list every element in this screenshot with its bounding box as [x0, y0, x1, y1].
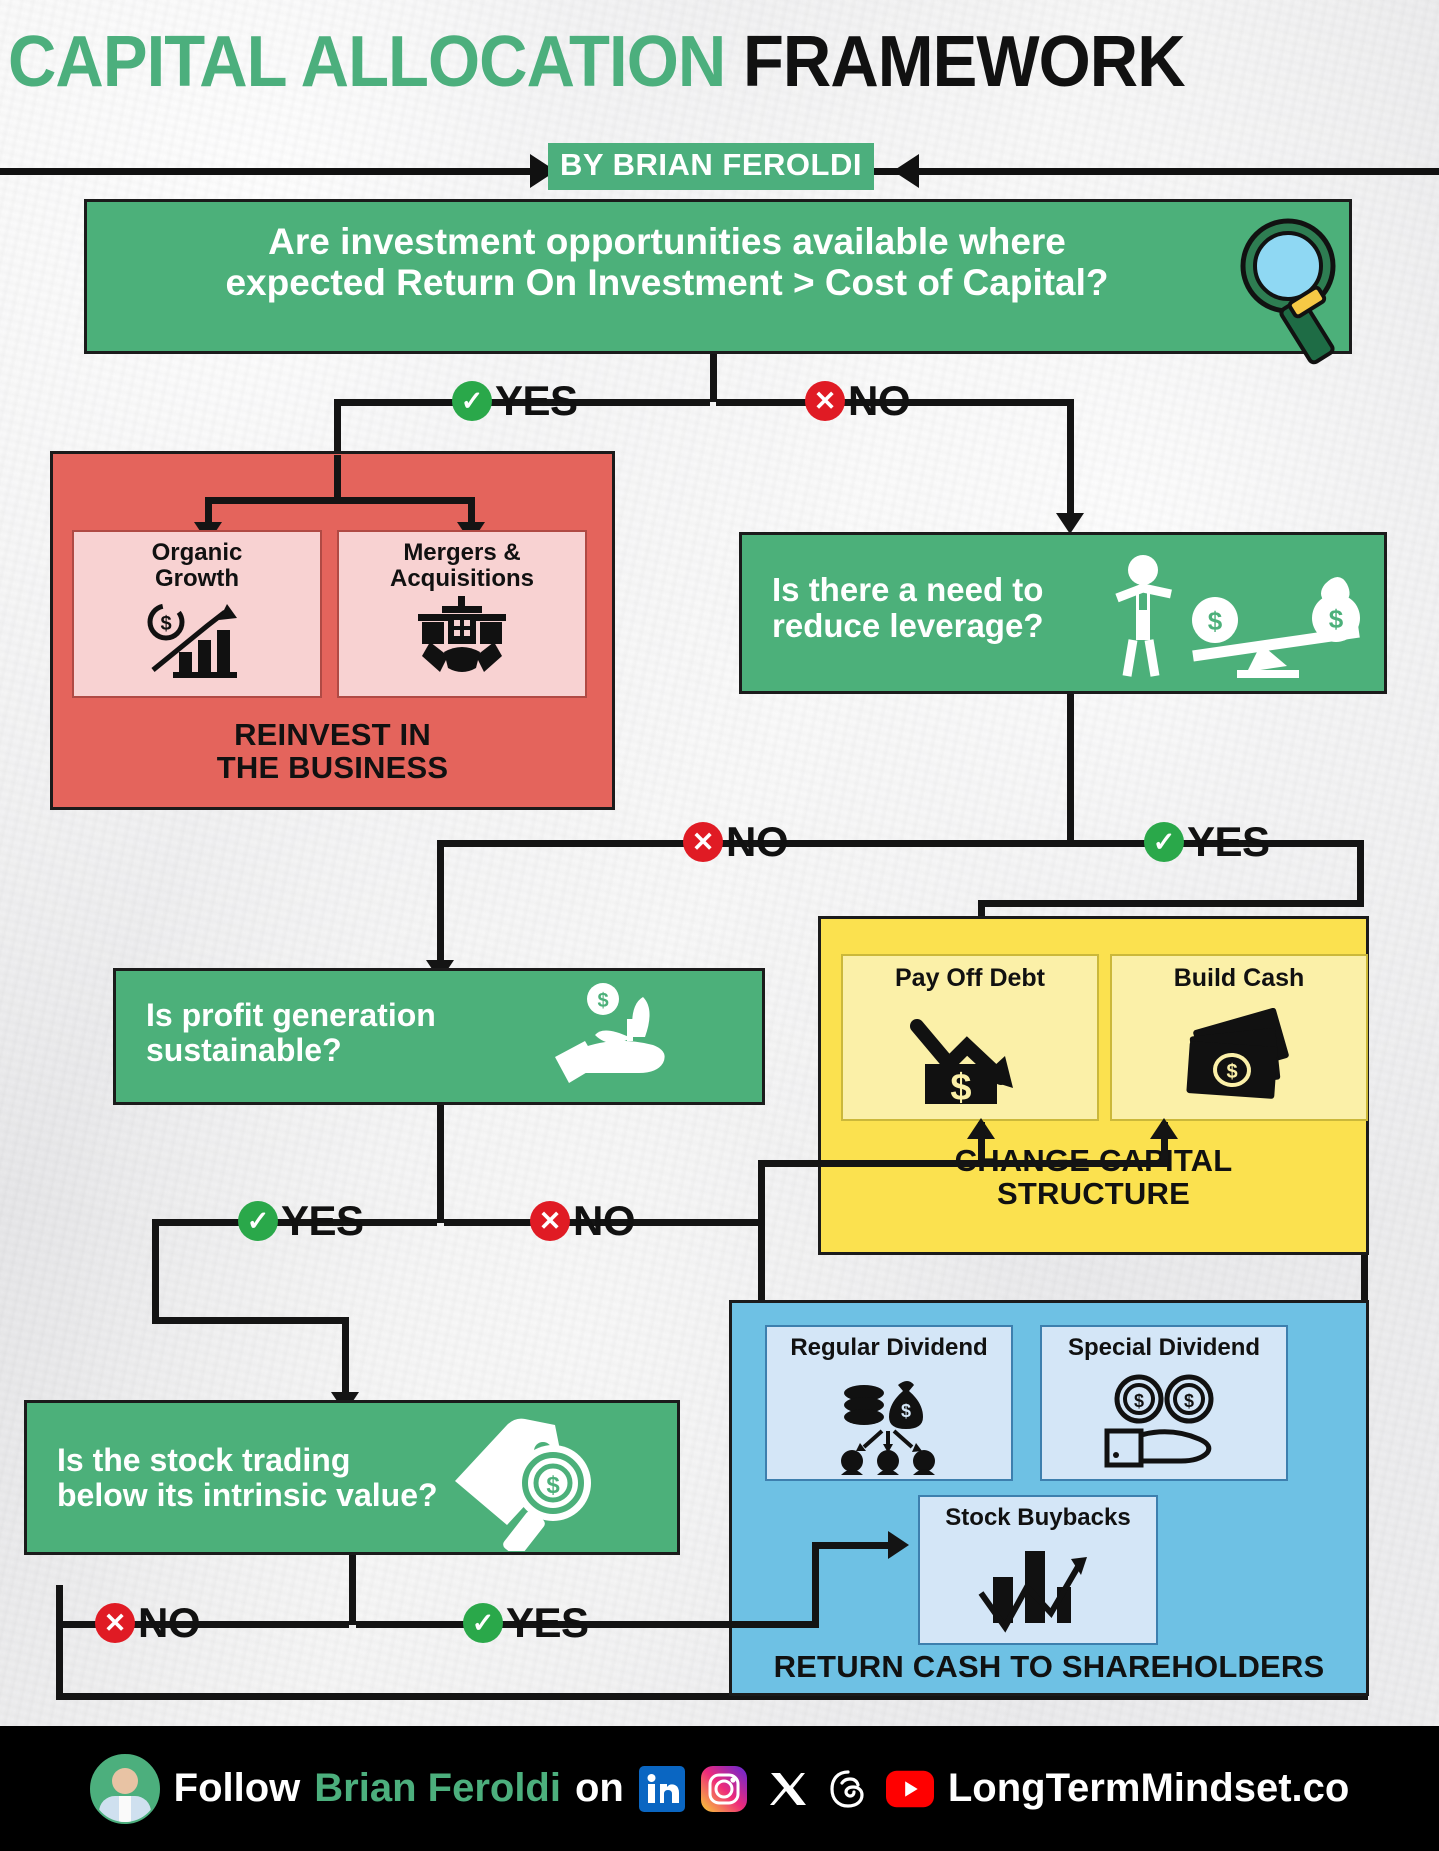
decision-roi-no: ✕ NO: [805, 380, 910, 422]
question-roi-text: Are investment opportunities available w…: [87, 222, 1247, 303]
group-capital-structure-label: CHANGE CAPITAL STRUCTURE: [818, 1144, 1369, 1211]
title-black-part: FRAMEWORK: [743, 22, 1185, 102]
buyback-bar-chart-icon: [920, 1541, 1156, 1642]
instagram-icon[interactable]: [700, 1765, 748, 1813]
connector-roi-stem: [710, 354, 717, 402]
connector-profit-yes-to-box: [342, 1317, 349, 1401]
group-return-cash-label: RETURN CASH TO SHAREHOLDERS: [729, 1650, 1369, 1683]
avatar-body: [99, 1796, 151, 1824]
question-intrinsic-box: Is the stock trading below its intrinsic…: [24, 1400, 680, 1555]
footer-bar: Follow Brian Feroldi on: [0, 1726, 1439, 1851]
decision-intrinsic-yes: ✓ YES: [463, 1602, 589, 1644]
svg-text:$: $: [1226, 1061, 1237, 1083]
decision-intrinsic-yes-label: YES: [506, 1602, 589, 1644]
connector-paydebt-up-arrow-icon: [967, 1118, 995, 1139]
cross-icon: ✕: [530, 1201, 570, 1241]
card-organic-growth: Organic Growth $: [72, 530, 322, 698]
card-pay-off-debt-title: Pay Off Debt: [843, 965, 1097, 992]
decision-profit-no: ✕ NO: [530, 1200, 635, 1242]
cross-icon: ✕: [683, 822, 723, 862]
growth-chart-icon: $: [74, 600, 320, 683]
coins-in-hand-icon: $ $: [1042, 1373, 1286, 1476]
connector-profit-yes-across: [152, 1317, 349, 1324]
connector-buildcash-arrow-icon: [1150, 1118, 1178, 1139]
footer-content: Follow Brian Feroldi on: [0, 1726, 1439, 1851]
card-pay-off-debt: Pay Off Debt $: [841, 954, 1099, 1121]
connector-capital-split-h: [978, 900, 1364, 907]
svg-text:$: $: [950, 1067, 971, 1104]
card-stock-buybacks-title: Stock Buybacks: [920, 1505, 1156, 1531]
svg-text:$: $: [597, 990, 608, 1012]
decision-intrinsic-no: ✕ NO: [95, 1602, 200, 1644]
linkedin-icon[interactable]: [638, 1765, 686, 1813]
connector-intrinsic-stem: [349, 1555, 356, 1625]
debt-down-arrow-icon: $: [843, 1012, 1097, 1109]
byline-arrow-right-icon: [893, 154, 919, 188]
decision-leverage-no: ✕ NO: [683, 821, 788, 863]
hand-sprout-money-icon: $: [541, 979, 741, 1099]
connector-roi-no-drop: [1067, 399, 1074, 520]
check-icon: ✓: [452, 381, 492, 421]
question-profit-box: Is profit generation sustainable? $: [113, 968, 765, 1105]
title-green-part: CAPITAL ALLOCATION: [8, 22, 725, 102]
svg-text:$: $: [546, 1472, 560, 1499]
question-roi-box: Are investment opportunities available w…: [84, 199, 1352, 354]
decision-leverage-yes-label: YES: [1187, 821, 1270, 863]
check-icon: ✓: [463, 1603, 503, 1643]
connector-profit-stem: [437, 1105, 444, 1223]
card-build-cash: Build Cash $: [1110, 954, 1368, 1121]
group-reinvest-label: REINVEST IN THE BUSINESS: [50, 718, 615, 785]
avatar: [90, 1754, 160, 1824]
svg-text:$: $: [901, 1401, 911, 1421]
connector-profit-yes-drop: [152, 1219, 159, 1324]
decision-profit-no-label: NO: [573, 1200, 635, 1242]
decision-leverage-yes: ✓ YES: [1144, 821, 1270, 863]
handshake-icon: [339, 594, 585, 683]
connector-leverage-stem: [1067, 694, 1074, 843]
youtube-icon[interactable]: [886, 1765, 934, 1813]
card-special-dividend-title: Special Dividend: [1042, 1335, 1286, 1361]
card-regular-dividend: Regular Dividend $: [765, 1325, 1013, 1481]
connector-buyback-arrow-icon: [888, 1531, 909, 1559]
card-build-cash-title: Build Cash: [1112, 965, 1366, 992]
footer-site-label: LongTermMindset.co: [948, 1766, 1349, 1811]
connector-profit-no-top: [758, 1160, 1168, 1167]
byline: BY BRIAN FEROLDI: [548, 143, 874, 190]
decision-intrinsic-no-label: NO: [138, 1602, 200, 1644]
leverage-scale-icon: $ $: [1097, 548, 1377, 678]
question-leverage-text: Is there a need to reduce leverage?: [772, 572, 1102, 645]
connector-leverage-yes-drop: [1357, 840, 1364, 907]
svg-text:$: $: [1134, 1391, 1144, 1411]
x-twitter-icon[interactable]: [762, 1765, 810, 1813]
card-stock-buybacks: Stock Buybacks: [918, 1495, 1158, 1645]
card-organic-growth-title: Organic Growth: [74, 540, 320, 592]
decision-profit-yes-label: YES: [281, 1200, 364, 1242]
cross-icon: ✕: [805, 381, 845, 421]
connector-roi-no-arrow-icon: [1056, 513, 1084, 534]
connector-reinvest-split-h: [205, 497, 475, 504]
svg-text:$: $: [1184, 1391, 1194, 1411]
page-title: CAPITAL ALLOCATION FRAMEWORK: [8, 26, 1331, 98]
infographic-stage: CAPITAL ALLOCATION FRAMEWORK BY BRIAN FE…: [0, 0, 1439, 1851]
cross-icon: ✕: [95, 1603, 135, 1643]
svg-text:$: $: [1208, 606, 1223, 636]
decision-profit-yes: ✓ YES: [238, 1200, 364, 1242]
price-tag-magnifier-icon: $: [447, 1411, 637, 1551]
cash-stack-icon: $: [1112, 1008, 1366, 1107]
decision-leverage-no-label: NO: [726, 821, 788, 863]
connector-leverage-no-drop: [437, 840, 444, 968]
footer-name-label: Brian Feroldi: [314, 1766, 561, 1811]
connector-reinvest-split-v: [334, 455, 341, 501]
check-icon: ✓: [1144, 822, 1184, 862]
decision-roi-yes-label: YES: [495, 380, 578, 422]
magnifier-icon: [1232, 216, 1354, 368]
question-leverage-box: Is there a need to reduce leverage? $ $: [739, 532, 1387, 694]
question-profit-text: Is profit generation sustainable?: [146, 998, 546, 1068]
money-bag-to-people-icon: $: [767, 1373, 1011, 1482]
decision-roi-no-label: NO: [848, 380, 910, 422]
check-icon: ✓: [238, 1201, 278, 1241]
svg-text:$: $: [160, 613, 171, 635]
footer-on-label: on: [575, 1766, 624, 1811]
avatar-head: [112, 1768, 138, 1794]
decision-roi-yes: ✓ YES: [452, 380, 578, 422]
connector-buyback-riser: [812, 1542, 819, 1628]
connector-buyback-across: [812, 1542, 894, 1549]
card-special-dividend: Special Dividend $ $: [1040, 1325, 1288, 1481]
card-mergers-acquisitions: Mergers & Acquisitions: [337, 530, 587, 698]
card-regular-dividend-title: Regular Dividend: [767, 1335, 1011, 1361]
question-intrinsic-text: Is the stock trading below its intrinsic…: [57, 1443, 487, 1513]
footer-follow-label: Follow: [174, 1766, 301, 1811]
card-mergers-acquisitions-title: Mergers & Acquisitions: [339, 540, 585, 592]
connector-intrinsic-no-riser: [56, 1585, 63, 1697]
threads-icon[interactable]: [824, 1765, 872, 1813]
